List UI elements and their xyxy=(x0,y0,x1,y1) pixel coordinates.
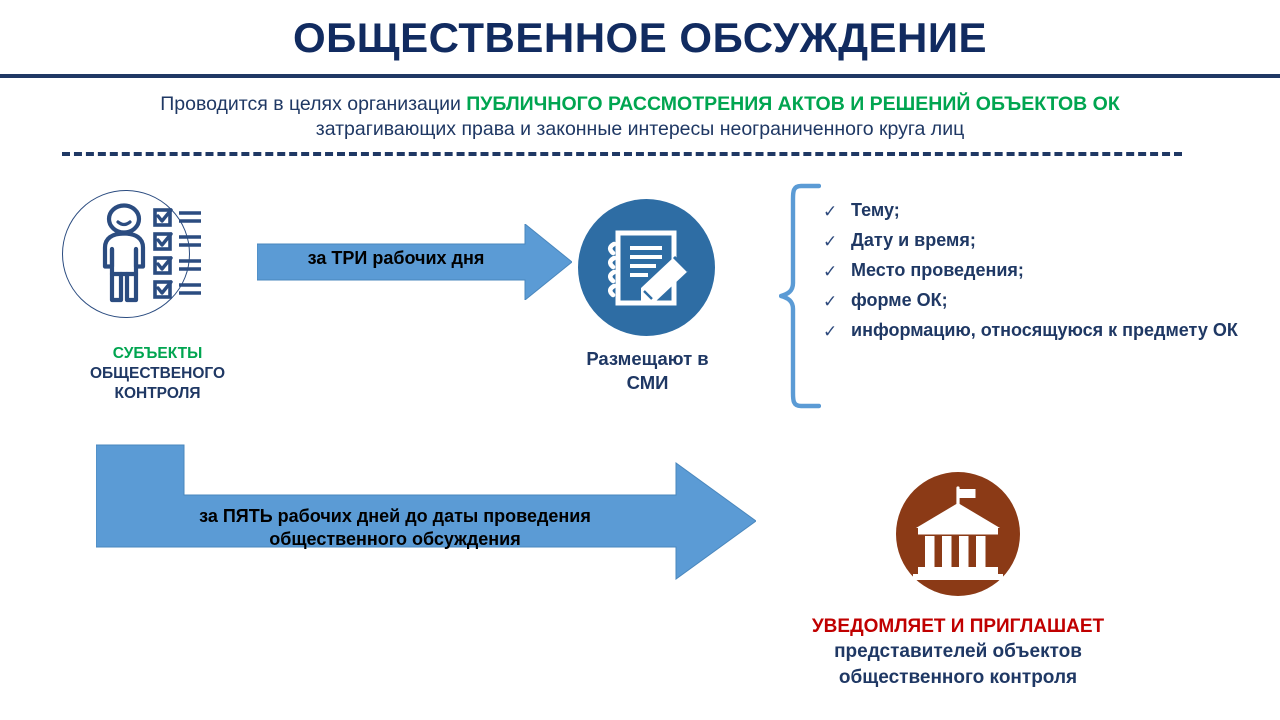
arrow-five-days-label-line-1: за ПЯТЬ рабочих дней до даты проведения xyxy=(125,505,665,528)
check-icon: ✓ xyxy=(823,228,851,255)
media-caption-line-1: Размещают в xyxy=(545,347,750,371)
arrow-five-days-label-line-2: общественного обсуждения xyxy=(125,528,665,551)
check-icon: ✓ xyxy=(823,198,851,225)
list-item: ✓ Тему; xyxy=(823,198,1263,225)
person-checklist-icon xyxy=(93,202,205,306)
check-icon: ✓ xyxy=(823,288,851,315)
subtitle-line-2: затрагивающих права и законные интересы … xyxy=(20,117,1260,142)
check-icon: ✓ xyxy=(823,318,851,345)
page-title: ОБЩЕСТВЕННОЕ ОБСУЖДЕНИЕ xyxy=(0,14,1280,62)
curly-brace-icon xyxy=(779,183,821,409)
arrow-three-days-label: за ТРИ рабочих дня xyxy=(262,248,530,269)
checklist: ✓ Тему; ✓ Дату и время; ✓ Место проведен… xyxy=(823,198,1263,348)
media-caption-line-2: СМИ xyxy=(545,371,750,395)
list-item: ✓ Место проведения; xyxy=(823,258,1263,285)
institution-caption-line-3: общественного контроля xyxy=(748,665,1168,690)
subjects-caption-accent: СУБЪЕКТЫ xyxy=(40,344,275,364)
list-item-label: Место проведения; xyxy=(851,258,1024,284)
institution-caption-line-2: представителей объектов xyxy=(748,639,1168,664)
check-icon: ✓ xyxy=(823,258,851,285)
subtitle-line-1: Проводится в целях организации ПУБЛИЧНОГ… xyxy=(20,92,1260,117)
list-item-label: информацию, относящуюся к предмету ОК xyxy=(851,318,1238,344)
institution-caption-alert: УВЕДОМЛЯЕТ И ПРИГЛАШАЕТ xyxy=(748,614,1168,639)
list-item-label: форме ОК; xyxy=(851,288,948,314)
institution-caption: УВЕДОМЛЯЕТ И ПРИГЛАШАЕТ представителей о… xyxy=(748,614,1168,690)
government-building-icon xyxy=(896,472,1020,596)
subjects-caption: СУБЪЕКТЫ ОБЩЕСТВЕНОГО КОНТРОЛЯ xyxy=(40,344,275,404)
list-item: ✓ информацию, относящуюся к предмету ОК xyxy=(823,318,1263,345)
arrow-five-days-label: за ПЯТЬ рабочих дней до даты проведения … xyxy=(125,505,665,552)
subjects-caption-line-3: КОНТРОЛЯ xyxy=(40,384,275,404)
subjects-caption-line-2: ОБЩЕСТВЕНОГО xyxy=(40,364,275,384)
list-item-label: Тему; xyxy=(851,198,900,224)
dashed-divider-rule xyxy=(62,152,1182,156)
list-item: ✓ Дату и время; xyxy=(823,228,1263,255)
subtitle-line-1-plain: Проводится в целях организации xyxy=(160,93,466,115)
list-item: ✓ форме ОК; xyxy=(823,288,1263,315)
slide-canvas: ОБЩЕСТВЕННОЕ ОБСУЖДЕНИЕ Проводится в цел… xyxy=(0,0,1280,720)
list-item-label: Дату и время; xyxy=(851,228,976,254)
notepad-pencil-icon xyxy=(578,199,715,336)
subtitle-block: Проводится в целях организации ПУБЛИЧНОГ… xyxy=(20,92,1260,142)
title-divider-rule xyxy=(0,74,1280,78)
media-caption: Размещают в СМИ xyxy=(545,347,750,396)
subtitle-line-1-accent: ПУБЛИЧНОГО РАССМОТРЕНИЯ АКТОВ И РЕШЕНИЙ … xyxy=(466,93,1119,115)
